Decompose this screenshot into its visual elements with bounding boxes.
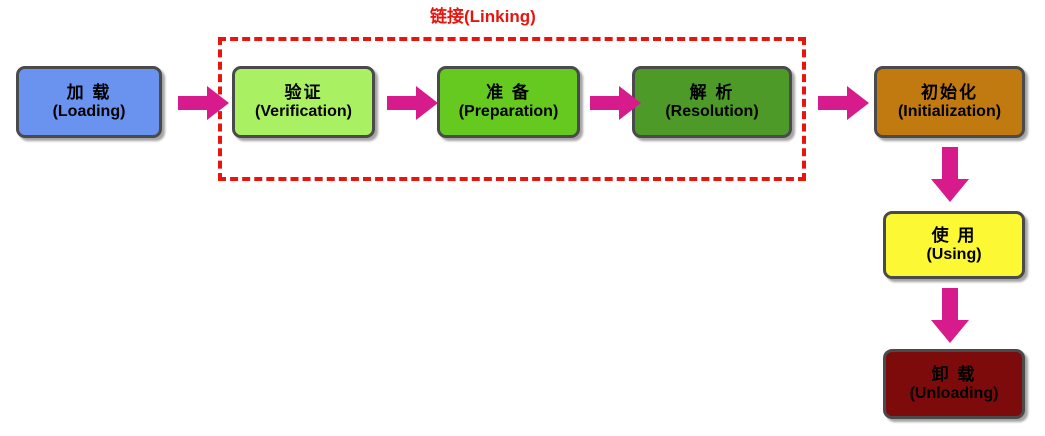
node-resolution-label-en: (Resolution) xyxy=(665,103,758,122)
node-resolution[interactable]: 解 析 (Resolution) xyxy=(632,66,792,138)
arrow-right-icon-preparation-to-resolution xyxy=(590,85,642,121)
node-verification-label-cn: 验证 xyxy=(285,83,323,103)
node-using-label-en: (Using) xyxy=(926,246,981,265)
node-using[interactable]: 使 用 (Using) xyxy=(883,211,1025,279)
node-unloading-label-en: (Unloading) xyxy=(910,385,999,404)
node-unloading[interactable]: 卸 载 (Unloading) xyxy=(883,349,1025,419)
node-preparation-label-cn: 准 备 xyxy=(486,83,531,103)
node-verification[interactable]: 验证 (Verification) xyxy=(232,66,375,138)
arrow-down-icon-initialization-to-using xyxy=(930,147,970,203)
node-verification-label-en: (Verification) xyxy=(255,103,352,122)
node-preparation-label-en: (Preparation) xyxy=(459,103,559,122)
node-loading-label-en: (Loading) xyxy=(53,103,126,122)
node-preparation[interactable]: 准 备 (Preparation) xyxy=(437,66,580,138)
node-using-label-cn: 使 用 xyxy=(932,226,977,246)
node-initialization[interactable]: 初始化 (Initialization) xyxy=(874,66,1025,138)
arrow-down-icon-using-to-unloading xyxy=(930,288,970,344)
node-initialization-label-cn: 初始化 xyxy=(921,83,978,103)
linking-group-label: 链接(Linking) xyxy=(430,2,536,27)
node-loading-label-cn: 加 载 xyxy=(67,83,112,103)
arrow-right-icon-loading-to-verification xyxy=(178,85,230,121)
node-initialization-label-en: (Initialization) xyxy=(898,103,1001,122)
arrow-right-icon-verification-to-preparation xyxy=(387,85,439,121)
node-loading[interactable]: 加 载 (Loading) xyxy=(16,66,162,138)
class-lifecycle-diagram: 链接(Linking) 加 载 (Loading) 验证 (Verificati… xyxy=(0,0,1045,436)
node-unloading-label-cn: 卸 载 xyxy=(932,365,977,385)
node-resolution-label-cn: 解 析 xyxy=(690,83,735,103)
arrow-right-icon-resolution-to-initialization xyxy=(818,85,870,121)
